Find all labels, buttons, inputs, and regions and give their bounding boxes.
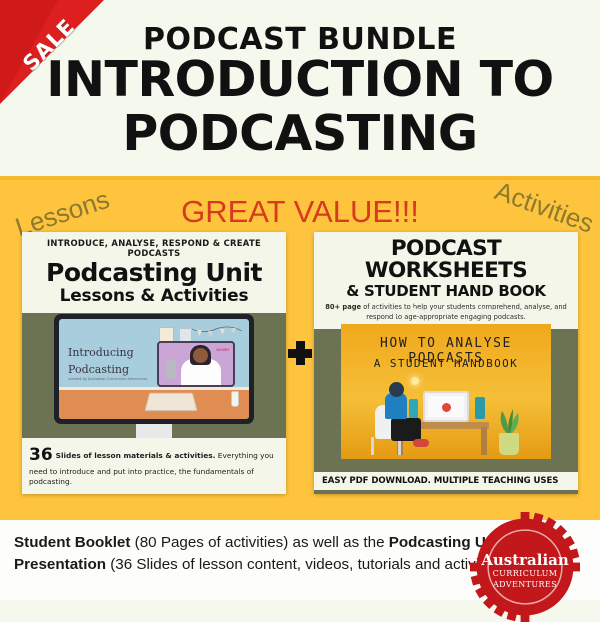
plant-icon xyxy=(493,405,525,435)
left-card-footer: 36Slides of lesson materials & activitie… xyxy=(22,438,286,494)
handbook-cover-illustration: HOW TO ANALYSE PODCASTS A STUDENT HANDBO… xyxy=(341,324,551,459)
product-card-podcasting-unit[interactable]: INTRODUCE, ANALYSE, RESPOND & CREATE POD… xyxy=(22,232,286,494)
header-banner: PODCAST BUNDLE INTRODUCTION TO PODCASTIN… xyxy=(0,0,600,176)
left-card-footer-text: 36Slides of lesson materials & activitie… xyxy=(29,443,279,488)
right-card-subtitle: & STUDENT HAND BOOK xyxy=(320,283,572,300)
product-card-podcast-worksheets[interactable]: PODCAST WORKSHEETS & STUDENT HAND BOOK 8… xyxy=(314,232,578,494)
sale-ribbon: SALE xyxy=(0,0,104,104)
microphone-icon xyxy=(166,359,176,379)
right-card-footer-text: EASY PDF DOWNLOAD. MULTIPLE TEACHING USE… xyxy=(322,476,570,486)
cup-icon xyxy=(231,391,239,407)
designed-for-label: Designed for Secondary Students xyxy=(314,306,578,317)
monitor-illustration: Introducing Podcasting created by Austra… xyxy=(22,310,286,450)
slide-title-line2: Podcasting xyxy=(68,363,129,376)
handbook-monitor xyxy=(423,391,469,422)
slide-title-line1: Introducing xyxy=(68,346,134,359)
plus-bar-vertical xyxy=(296,341,305,365)
left-card-eyebrow: INTRODUCE, ANALYSE, RESPOND & CREATE POD… xyxy=(28,238,280,258)
handbook-person-legs xyxy=(391,418,421,441)
handbook-person-shoe xyxy=(413,439,429,447)
right-card-footer: EASY PDF DOWNLOAD. MULTIPLE TEACHING USE… xyxy=(314,472,578,490)
podcaster-head xyxy=(193,348,208,363)
bunting-icon xyxy=(189,325,243,341)
footer-text-2: (36 Slides of lesson content, videos, tu… xyxy=(106,556,508,573)
plus-icon xyxy=(288,341,312,365)
keyboard-illustration xyxy=(144,393,197,411)
activities-tag: Activities xyxy=(491,176,598,240)
footer-bold-booklet: Student Booklet xyxy=(14,534,130,551)
badge-line1: Australian xyxy=(470,551,580,569)
handbook-monitor-record-dot xyxy=(442,403,451,412)
badge-line3: ADVENTURES xyxy=(470,580,580,589)
left-card-title: Podcasting Unit xyxy=(28,260,280,286)
page-title-line2: PODCASTING xyxy=(0,108,600,159)
right-card-title: PODCAST WORKSHEETS xyxy=(320,238,572,282)
left-card-subtitle: Lessons & Activities xyxy=(28,287,280,306)
badge-line2: CURRICULUM xyxy=(470,569,580,578)
monitor-screen: Introducing Podcasting created by Austra… xyxy=(59,319,249,419)
speaker-right-icon xyxy=(475,397,485,419)
speaker-left-icon xyxy=(409,399,418,419)
slide-byline: created by Australian Curriculum Adventu… xyxy=(68,377,148,381)
footer-text-1: (80 Pages of activities) as well as the xyxy=(130,534,388,551)
handbook-person-head xyxy=(389,382,404,397)
left-card-header: INTRODUCE, ANALYSE, RESPOND & CREATE POD… xyxy=(22,232,286,313)
slide-count: 36 xyxy=(29,445,53,465)
left-footer-bold: Slides of lesson materials & activities. xyxy=(56,451,216,460)
handbook-desk-leg-right xyxy=(481,427,487,455)
portrait-badge: WGBH xyxy=(216,347,229,352)
slide-title: Introducing Podcasting xyxy=(68,345,134,378)
product-showcase-panel: GREAT VALUE!!! Lessons Activities INTROD… xyxy=(0,176,600,520)
idea-bulb-icon xyxy=(411,377,419,385)
brand-badge-main: Australian CURRICULUM ADVENTURES xyxy=(470,512,580,622)
plant-pot xyxy=(499,433,519,455)
monitor-bezel: Introducing Podcasting created by Austra… xyxy=(54,314,254,424)
podcaster-portrait: WGBH xyxy=(157,341,235,387)
handbook-subtitle: A STUDENT HANDBOOK xyxy=(341,357,551,370)
